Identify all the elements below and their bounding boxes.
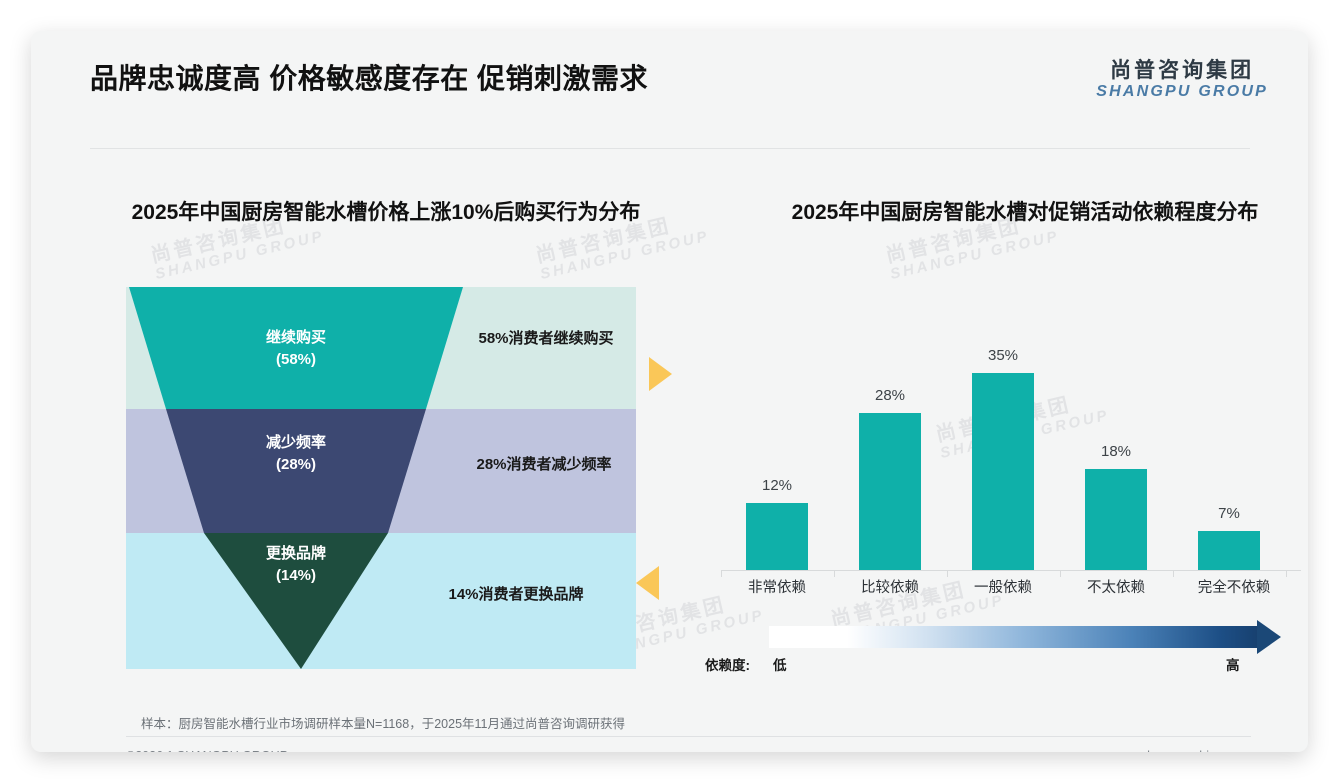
header-divider (90, 148, 1250, 149)
legend-title: 依赖度: (705, 654, 750, 674)
category-label: 一般依赖 (947, 576, 1059, 597)
logo-text-cn: 尚普咨询集团 (1096, 59, 1268, 83)
logo-text-en: SHANGPU GROUP (1096, 83, 1268, 101)
funnel-label-2-value: (14%) (276, 567, 316, 584)
copyright-text: ©2026.1 SHANGPU GROUP (126, 749, 288, 752)
dependency-bar-chart: 12% 28% 35% 18% 7% (721, 316, 1301, 571)
bar-column[interactable]: 7% (1198, 505, 1260, 570)
bar-value-label: 7% (1218, 505, 1240, 522)
category-label: 非常依赖 (721, 576, 833, 597)
source-note: 样本：厨房智能水槽行业市场调研样本量N=1168，于2025年11月通过尚普咨询… (141, 713, 625, 732)
website-link[interactable]: www.shangpu-china.com (1111, 749, 1250, 752)
triangle-left-icon (636, 566, 659, 600)
legend-high-label: 高 (1226, 654, 1240, 674)
funnel-band-text-0: 58%消费者继续购买 (446, 327, 646, 348)
bar-column[interactable]: 28% (859, 387, 921, 571)
bar-column[interactable]: 18% (1085, 443, 1147, 570)
funnel-label-1-value: (28%) (276, 456, 316, 473)
footer-divider (126, 736, 1251, 737)
funnel-band-text-1: 28%消费者减少频率 (444, 453, 644, 474)
funnel-label-0: 继续购买 (58%) (241, 327, 351, 371)
legend-low-label: 低 (773, 654, 787, 674)
funnel-label-0-name: 继续购买 (266, 329, 326, 346)
bar-column[interactable]: 12% (746, 477, 808, 571)
category-label: 不太依赖 (1060, 576, 1172, 597)
slide-container: 尚普咨询集团 SHANGPU GROUP 尚普咨询集团 SHANGPU GROU… (31, 31, 1308, 752)
bar-rect[interactable] (1198, 531, 1260, 570)
bar-rect[interactable] (746, 503, 808, 571)
category-label: 比较依赖 (834, 576, 946, 597)
brand-logo: 尚普咨询集团 SHANGPU GROUP (1096, 59, 1268, 102)
bar-value-label: 18% (1101, 443, 1131, 460)
gradient-bar (769, 626, 1259, 648)
category-label: 完全不依赖 (1173, 576, 1295, 597)
page-title: 品牌忠诚度高 价格敏感度存在 促销刺激需求 (90, 57, 648, 97)
funnel-label-1: 减少频率 (28%) (241, 432, 351, 476)
funnel-label-1-name: 减少频率 (266, 434, 326, 451)
x-axis-line (721, 570, 1301, 571)
right-chart-title: 2025年中国厨房智能水槽对促销活动依赖程度分布 (719, 199, 1308, 227)
bar-rect[interactable] (859, 413, 921, 571)
slide-header: 品牌忠诚度高 价格敏感度存在 促销刺激需求 尚普咨询集团 SHANGPU GRO… (31, 31, 1308, 124)
watermark-en: SHANGPU GROUP (539, 228, 711, 282)
arrow-right-icon (1257, 620, 1281, 654)
bar-value-label: 35% (988, 347, 1018, 364)
triangle-right-icon (649, 357, 672, 391)
bar-rect[interactable] (1085, 469, 1147, 570)
bar-value-label: 28% (875, 387, 905, 404)
funnel-band-text-2: 14%消费者更换品牌 (416, 583, 616, 604)
funnel-label-2: 更换品牌 (14%) (241, 543, 351, 587)
watermark-en: SHANGPU GROUP (889, 228, 1061, 282)
watermark-en: SHANGPU GROUP (154, 228, 326, 282)
dependency-gradient-legend: 依赖度: 低 高 (721, 626, 1291, 681)
bar-rect[interactable] (972, 373, 1034, 570)
funnel-label-2-name: 更换品牌 (266, 545, 326, 562)
bar-column[interactable]: 35% (972, 347, 1034, 570)
funnel-label-0-value: (58%) (276, 351, 316, 368)
funnel-chart: 继续购买 (58%) 减少频率 (28%) 更换品牌 (14%) 58%消费者继… (126, 287, 636, 669)
left-chart-title: 2025年中国厨房智能水槽价格上涨10%后购买行为分布 (73, 199, 699, 227)
bar-value-label: 12% (762, 477, 792, 494)
